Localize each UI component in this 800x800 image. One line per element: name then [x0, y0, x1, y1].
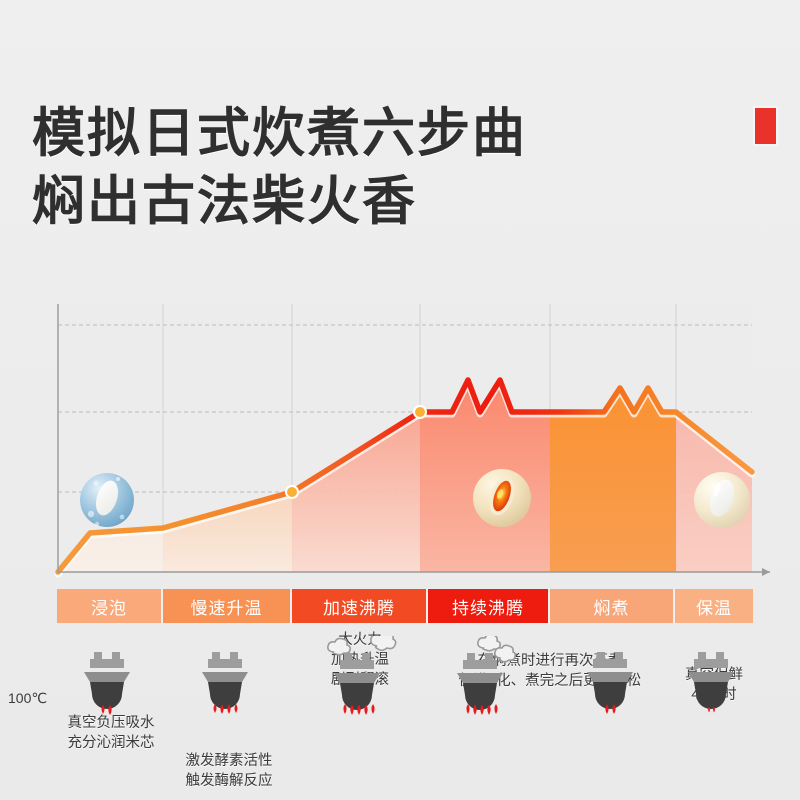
rice-icon-heated [473, 469, 531, 527]
cooker-body [688, 652, 734, 709]
rice-cooker-icon [450, 636, 528, 722]
cooking-temperature-chart: 100℃ 真空负压吸水 充分沁润米芯 激发酵素活性 触发酶解反应 大火力 加热升… [0, 290, 800, 590]
cooker-body [457, 653, 503, 710]
cooker-body [84, 652, 130, 709]
promo-infographic-page: 模拟日式炊煮六步曲 焖出古法柴火香 [0, 0, 800, 800]
cooker-icon-cell-soak [57, 632, 163, 722]
rice-cooker-icon [581, 642, 645, 722]
rice-cooker-icon [321, 636, 399, 722]
rice-cooker-icon [78, 642, 142, 722]
cooker-icon-cell-sustained-boil [428, 632, 550, 722]
rice-cooker-icon [196, 642, 260, 722]
marker-slow-end [287, 487, 297, 497]
stage-label-bar: 浸泡 慢速升温 加速沸腾 持续沸腾 焖煮 保温 [57, 589, 753, 623]
cooker-icon-row [57, 632, 753, 722]
stage-label-keep-warm-text: 保温 [696, 594, 732, 619]
cooker-icon-cell-slow-heat [163, 632, 292, 722]
steam-group [478, 636, 515, 662]
headline-line-1: 模拟日式炊煮六步曲 [32, 100, 732, 168]
annotation-soak-line-2: 充分沁润米芯 [58, 733, 164, 753]
chart-canvas [0, 290, 800, 590]
accent-square-decoration [755, 108, 776, 144]
stage-label-fast-boil-text: 加速沸腾 [323, 594, 395, 619]
stage-label-slow-heat[interactable]: 慢速升温 [163, 589, 292, 623]
annotation-slow-line-2: 触发酶解反应 [165, 771, 293, 791]
steam-group [328, 636, 396, 655]
stage-label-sustained-boil-text: 持续沸腾 [452, 594, 524, 619]
cooker-icon-cell-keep-warm [675, 632, 753, 722]
x-axis-arrow [762, 568, 770, 576]
cooker-body [334, 653, 380, 710]
stage-label-simmer[interactable]: 焖煮 [550, 589, 675, 623]
stage-label-simmer-text: 焖煮 [594, 594, 630, 619]
page-title: 模拟日式炊煮六步曲 焖出古法柴火香 [32, 100, 732, 236]
rice-icon-soak [80, 473, 134, 527]
stage-label-sustained-boil[interactable]: 持续沸腾 [428, 589, 550, 623]
rice-cooker-icon [682, 642, 746, 722]
stage-label-keep-warm[interactable]: 保温 [675, 589, 753, 623]
annotation-slow-line-1: 激发酵素活性 [165, 751, 293, 771]
marker-boil-start [415, 407, 425, 417]
cooker-icon-cell-simmer [550, 632, 675, 722]
y-axis-tick-label: 100℃ [8, 690, 47, 707]
cooker-body [202, 652, 248, 709]
annotation-slow-heat: 激发酵素活性 触发酶解反应 [165, 751, 293, 791]
cooker-icon-cell-fast-boil [292, 632, 428, 722]
headline-line-2: 焖出古法柴火香 [32, 168, 732, 236]
cooker-body [587, 652, 633, 709]
stage-label-fast-boil[interactable]: 加速沸腾 [292, 589, 428, 623]
stage-label-soak-text: 浸泡 [91, 594, 127, 619]
stage-label-slow-heat-text: 慢速升温 [191, 594, 263, 619]
stage-label-soak[interactable]: 浸泡 [57, 589, 163, 623]
rice-icon-cooked [694, 472, 750, 528]
